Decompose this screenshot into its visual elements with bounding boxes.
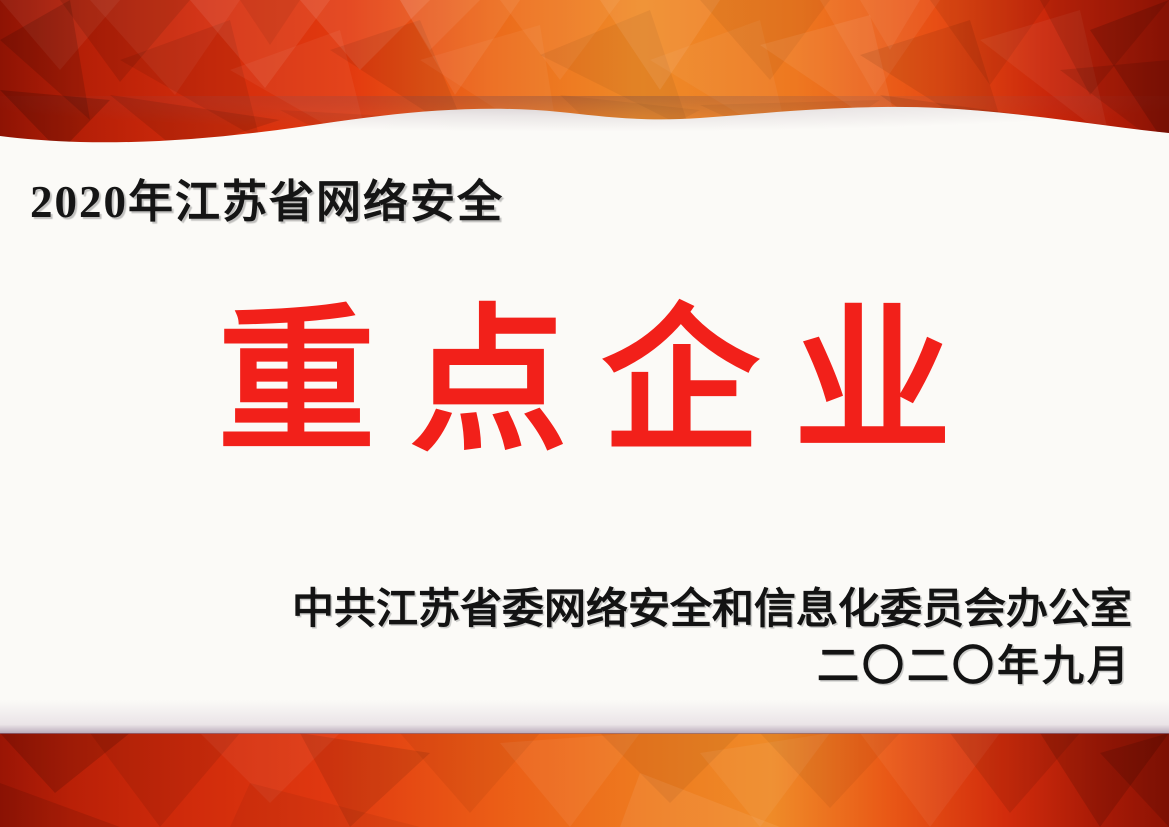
certificate-content: 2020年江苏省网络安全 重点企业 中共江苏省委网络安全和信息化委员会办公室 二…: [0, 0, 1169, 827]
issuer-block: 中共江苏省委网络安全和信息化委员会办公室 二〇二〇年九月: [0, 583, 1132, 698]
headline-text: 2020年江苏省网络安全: [30, 165, 504, 230]
certificate-canvas: 2020年江苏省网络安全 重点企业 中共江苏省委网络安全和信息化委员会办公室 二…: [0, 0, 1169, 827]
issuer-date-text: 二〇二〇年九月: [0, 638, 1132, 698]
award-title-text: 重点企业: [0, 305, 1169, 463]
issuer-organization-text: 中共江苏省委网络安全和信息化委员会办公室: [0, 583, 1132, 638]
